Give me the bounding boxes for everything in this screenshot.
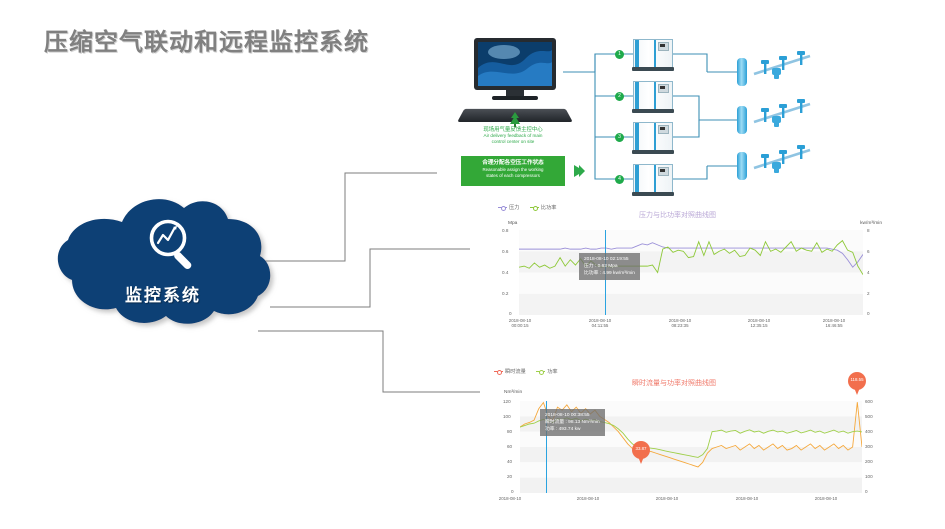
x-tick-line1: 2018-08-10 <box>656 496 678 501</box>
x-tick-line2: 00:00:15 <box>511 323 528 328</box>
x-tick: 2018-08-10 <box>639 496 695 501</box>
legend-label: 瞬时流量 <box>505 369 526 375</box>
x-tick-line1: 2018-08-10 <box>669 318 691 323</box>
x-tick: 2018-08-10 12:35:15 <box>731 318 787 329</box>
pressure-chart-title: 压力与比功率对照曲线图 <box>639 210 716 220</box>
y2-tick: 400 <box>865 429 873 434</box>
max-marker-pin: 118.55 <box>848 372 866 396</box>
y2-tick: 8 <box>867 228 870 233</box>
flow-chart-card: 瞬时流量 功率 瞬时流量与功率对照曲线图 Nm³/min 120 100 80 … <box>484 362 884 522</box>
x-tick: 2018-08-10 08:23:35 <box>652 318 708 329</box>
legend-label: 比功率 <box>541 205 557 211</box>
x-tick-line1: 2018-08-10 <box>499 496 521 501</box>
y2-tick: 500 <box>865 414 873 419</box>
legend-label: 功率 <box>547 369 557 375</box>
legend-item: 比功率 <box>530 204 557 211</box>
y-tick: 0 <box>509 311 512 316</box>
system-diagram: 现场用气量反馈主控中心 Air delivery feedback of mai… <box>437 14 937 204</box>
compressor-unit <box>633 122 673 154</box>
y-tick: 0.8 <box>502 228 508 233</box>
tooltip-row2: 比功率 : 4.99 kw/m³/min <box>584 270 635 277</box>
legend-item: 功率 <box>536 368 557 375</box>
x-tick-line2: 16:46:55 <box>825 323 842 328</box>
legend-label: 压力 <box>509 205 519 211</box>
x-tick-line1: 2018-08-10 <box>577 496 599 501</box>
air-tank-icon <box>737 106 747 134</box>
y2-tick: 0 <box>867 311 870 316</box>
tooltip-row2: 功率 : 493.74 kw <box>545 426 600 433</box>
legend-marker <box>494 370 503 374</box>
y-tick: 20 <box>507 474 512 479</box>
y2-tick: 0 <box>865 489 868 494</box>
x-tick-line2: 12:35:15 <box>750 323 767 328</box>
x-tick: 2018-08-10 <box>798 496 854 501</box>
compressor-unit <box>633 164 673 196</box>
node-badge-3: 3 <box>615 133 624 142</box>
pressure-plot-area[interactable] <box>519 230 863 315</box>
legend-marker <box>536 370 545 374</box>
node-badge-2: 2 <box>615 92 624 101</box>
tooltip-time: 2018-08-10 00:38:55 <box>545 412 600 419</box>
monitoring-cloud[interactable]: 监控系统 <box>38 186 288 336</box>
pressure-chart-legend[interactable]: 压力 比功率 <box>498 204 565 211</box>
tooltip-row1: 压力 : 0.63 Mpa <box>584 263 635 270</box>
y2-tick: 200 <box>865 459 873 464</box>
compressor-unit <box>633 39 673 71</box>
tooltip-row1: 瞬时流量 : 98.13 Nm³/min <box>545 419 600 426</box>
x-tick-line2: 04:11:55 <box>592 323 609 328</box>
y-tick: 0.2 <box>502 291 508 296</box>
x-tick-line1: 2018-08-10 <box>748 318 770 323</box>
connector-to-flow-chart <box>258 331 480 392</box>
x-tick-line1: 2018-08-10 <box>815 496 837 501</box>
tool-line-icon <box>752 50 814 82</box>
tooltip-time: 2018-08-10 02:19:55 <box>584 256 635 263</box>
air-tank-icon <box>737 152 747 180</box>
tool-line-icon <box>752 98 814 130</box>
flow-tooltip: 2018-08-10 00:38:55 瞬时流量 : 98.13 Nm³/min… <box>540 409 605 436</box>
y-tick: 40 <box>507 459 512 464</box>
y-tick: 120 <box>503 399 511 404</box>
x-tick-line1: 2018-08-10 <box>589 318 611 323</box>
pressure-tooltip: 2018-08-10 02:19:55 压力 : 0.63 Mpa 比功率 : … <box>579 253 640 280</box>
magnifier-chart-icon <box>143 214 205 276</box>
node-badge-4: 4 <box>615 175 624 184</box>
marker-value: 118.55 <box>848 377 866 382</box>
legend-marker <box>498 206 507 210</box>
flow-chart-title: 瞬时流量与功率对照曲线图 <box>632 378 716 388</box>
node-badge-1: 1 <box>615 50 624 59</box>
legend-item: 瞬时流量 <box>494 368 526 375</box>
x-tick: 2018-08-10 <box>560 496 616 501</box>
marker-value: 33.87 <box>632 446 650 451</box>
y2-tick: 2 <box>867 291 870 296</box>
min-marker-pin: 33.87 <box>632 441 650 465</box>
y-tick: 0.6 <box>502 249 508 254</box>
x-tick-line1: 2018-08-10 <box>736 496 758 501</box>
flow-chart-legend[interactable]: 瞬时流量 功率 <box>494 368 567 375</box>
y2-tick: 4 <box>867 270 870 275</box>
connector-to-pressure-chart <box>270 249 470 307</box>
x-tick: 2018-08-10 <box>482 496 538 501</box>
y-tick: 80 <box>507 429 512 434</box>
pressure-chart-card: 压力 比功率 压力与比功率对照曲线图 Mpa kw/m³/min 0.8 0.6… <box>484 200 884 335</box>
x-tick: 2018-08-10 <box>719 496 775 501</box>
legend-marker <box>530 206 539 210</box>
air-tank-icon <box>737 58 747 86</box>
y-tick: 0.4 <box>502 270 508 275</box>
pressure-y-axis-label: Mpa <box>508 221 517 226</box>
legend-item: 压力 <box>498 204 519 211</box>
flow-y-axis-label: Nm³/min <box>504 390 522 395</box>
x-tick-line2: 08:23:35 <box>671 323 688 328</box>
piping-network <box>437 14 937 204</box>
x-tick-line1: 2018-08-10 <box>509 318 531 323</box>
x-tick: 2018-08-10 04:11:55 <box>572 318 628 329</box>
x-tick: 2018-08-10 00:00:15 <box>492 318 548 329</box>
pressure-y2-axis-label: kw/m³/min <box>860 221 882 226</box>
slide-canvas: 压缩空气联动和远程监控系统 监控系统 <box>0 0 945 529</box>
cloud-label: 监控系统 <box>38 281 288 306</box>
pressure-series-svg <box>519 230 863 315</box>
y2-tick: 100 <box>865 474 873 479</box>
y-tick: 60 <box>507 444 512 449</box>
page-title: 压缩空气联动和远程监控系统 <box>44 22 369 57</box>
y-tick: 0 <box>511 489 514 494</box>
y2-tick: 300 <box>865 444 873 449</box>
x-tick: 2018-08-10 16:46:55 <box>806 318 862 329</box>
y2-tick: 6 <box>867 249 870 254</box>
y2-tick: 600 <box>865 399 873 404</box>
tool-line-icon <box>752 144 814 176</box>
x-tick-line1: 2018-08-10 <box>823 318 845 323</box>
compressor-unit <box>633 81 673 113</box>
y-tick: 100 <box>503 414 511 419</box>
